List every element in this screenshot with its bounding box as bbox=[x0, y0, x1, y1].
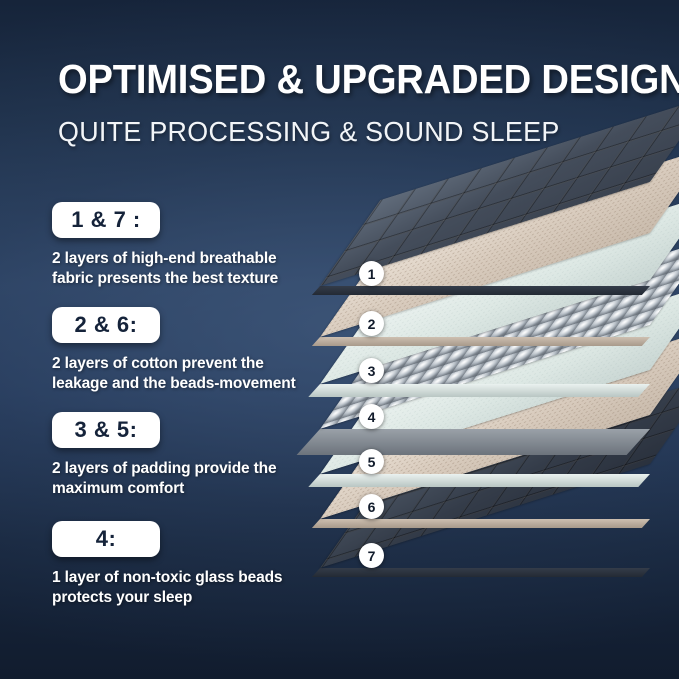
feature-description: 1 layer of non-toxic glass beads protect… bbox=[52, 568, 300, 607]
layer-badge-3: 3 bbox=[359, 358, 384, 383]
feature-block-3-and-5: 3 & 5: 2 layers of padding provide the m… bbox=[52, 412, 322, 498]
layer-diagram: 1 2 3 4 5 6 7 bbox=[300, 160, 679, 660]
layer-badge-4: 4 bbox=[359, 404, 384, 429]
feature-label-text: 3 & 5: bbox=[52, 417, 160, 443]
feature-label-pill: 4: bbox=[52, 521, 160, 557]
feature-label-text: 1 & 7 : bbox=[52, 207, 160, 233]
feature-label-text: 4: bbox=[52, 526, 160, 552]
feature-block-4: 4: 1 layer of non-toxic glass beads prot… bbox=[52, 521, 322, 607]
layer-edge bbox=[312, 286, 650, 295]
feature-label-pill: 2 & 6: bbox=[52, 307, 160, 343]
feature-label-pill: 3 & 5: bbox=[52, 412, 160, 448]
feature-block-2-and-6: 2 & 6: 2 layers of cotton prevent the le… bbox=[52, 307, 322, 393]
layer-badge-2: 2 bbox=[359, 311, 384, 336]
page-title: OPTIMISED & UPGRADED DESIGN bbox=[58, 56, 616, 102]
feature-description: 2 layers of padding provide the maximum … bbox=[52, 459, 300, 498]
feature-label-pill: 1 & 7 : bbox=[52, 202, 160, 238]
feature-description: 2 layers of cotton prevent the leakage a… bbox=[52, 354, 300, 393]
layer-badge-1: 1 bbox=[359, 261, 384, 286]
feature-block-1-and-7: 1 & 7 : 2 layers of high-end breathable … bbox=[52, 202, 322, 288]
feature-description: 2 layers of high-end breathable fabric p… bbox=[52, 249, 300, 288]
infographic-root: OPTIMISED & UPGRADED DESIGN QUITE PROCES… bbox=[0, 0, 679, 679]
page-subtitle: QUITE PROCESSING & SOUND SLEEP bbox=[58, 116, 634, 148]
layer-badge-6: 6 bbox=[359, 494, 384, 519]
layer-badge-7: 7 bbox=[359, 543, 384, 568]
feature-label-text: 2 & 6: bbox=[52, 312, 160, 338]
diagram-layer-1 bbox=[300, 178, 679, 478]
layer-badge-5: 5 bbox=[359, 449, 384, 474]
header: OPTIMISED & UPGRADED DESIGN QUITE PROCES… bbox=[58, 56, 658, 148]
